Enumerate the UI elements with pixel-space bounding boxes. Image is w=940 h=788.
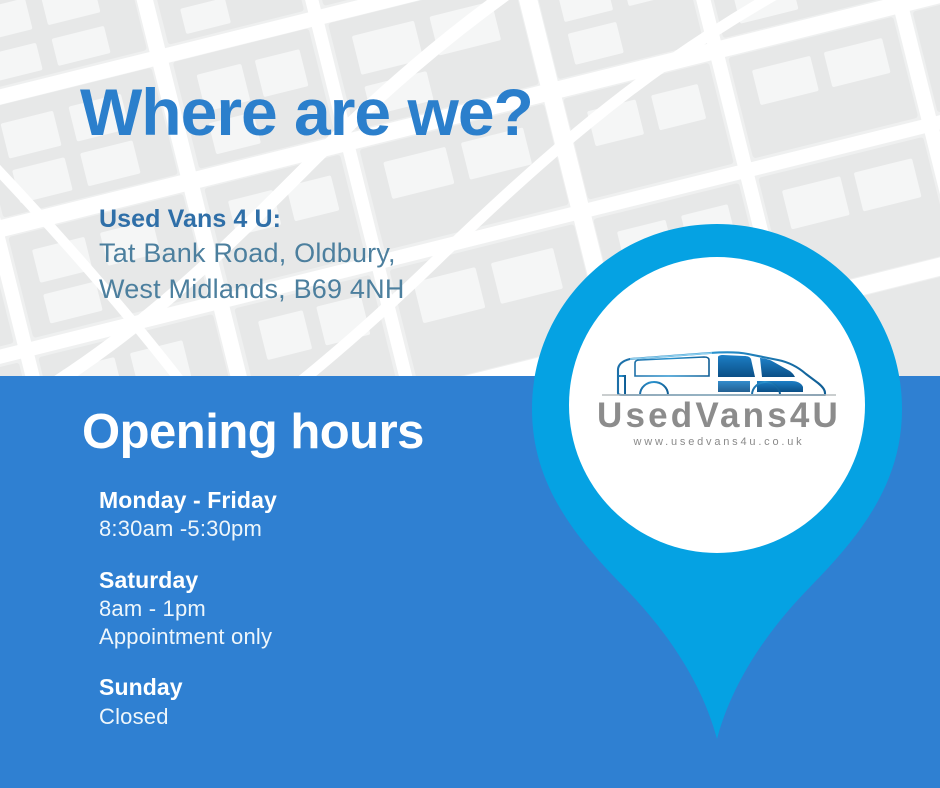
hours-entry-saturday: Saturday 8am - 1pm Appointment only [99,566,519,652]
hours-time-value: 8:30am -5:30pm [99,515,519,543]
page-title: Where are we? [80,78,533,147]
hours-day-label: Sunday [99,673,519,702]
hours-entry-sunday: Sunday Closed [99,673,519,731]
hours-time-note: Appointment only [99,623,519,651]
opening-hours-list: Monday - Friday 8:30am -5:30pm Saturday … [99,486,519,731]
hours-day-label: Monday - Friday [99,486,519,515]
hours-entry-weekday: Monday - Friday 8:30am -5:30pm [99,486,519,544]
logo-wordmark: UsedVans4U [592,398,846,433]
hours-time-value: 8am - 1pm [99,595,519,623]
address-block: Used Vans 4 U: Tat Bank Road, Oldbury, W… [99,203,405,308]
logo-website-url: www.usedvans4u.co.uk [592,437,846,448]
opening-hours-title: Opening hours [82,404,424,460]
address-line-2: West Midlands, B69 4NH [99,272,405,308]
hours-time-value: Closed [99,703,519,731]
company-logo: UsedVans4U www.usedvans4u.co.uk [592,346,846,458]
map-pin [520,214,920,749]
hours-day-label: Saturday [99,566,519,595]
address-line-1: Tat Bank Road, Oldbury, [99,236,405,272]
location-poster: Where are we? Used Vans 4 U: Tat Bank Ro… [0,0,940,788]
business-name: Used Vans 4 U: [99,203,405,236]
map-pin-icon [520,214,920,749]
